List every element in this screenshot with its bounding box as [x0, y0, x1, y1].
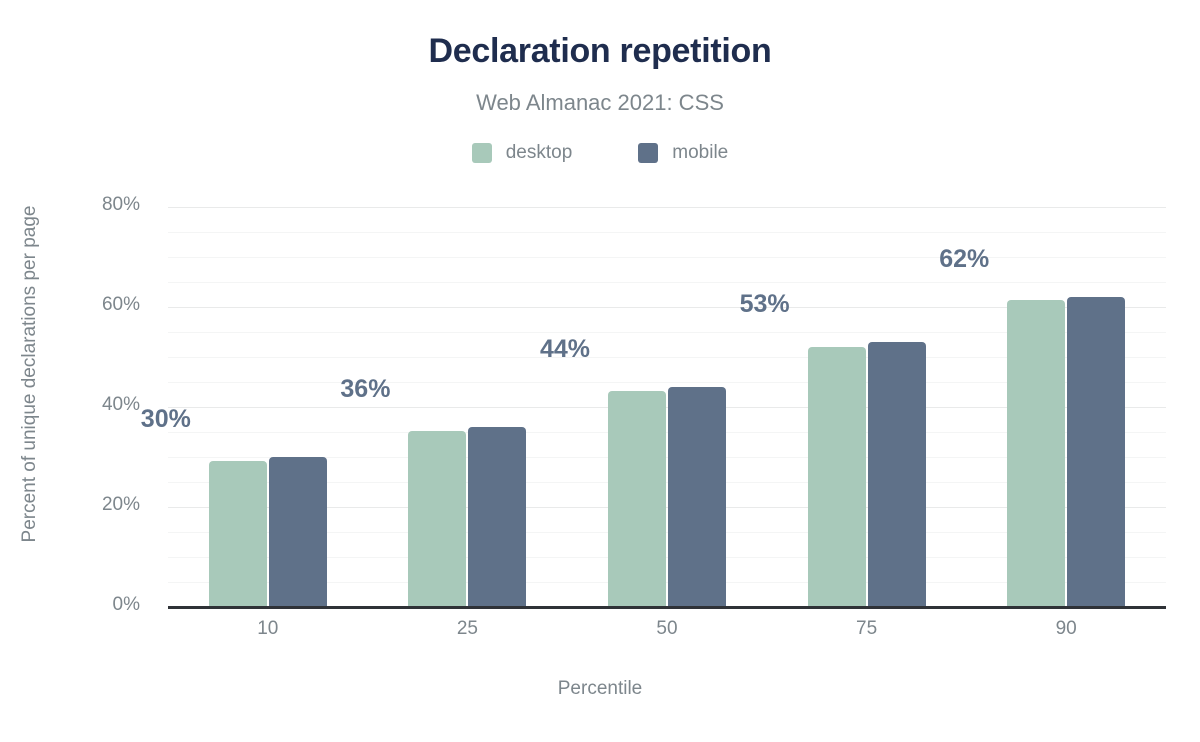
bar-mobile-10[interactable]: [269, 457, 327, 607]
bar-value-label-75: 53%: [740, 290, 790, 319]
bar-group-75: 53%: [808, 207, 926, 607]
bar-mobile-25[interactable]: [468, 427, 526, 607]
bar-mobile-90[interactable]: [1067, 297, 1125, 607]
x-tick-label-25: 25: [387, 618, 547, 640]
x-tick-label-90: 90: [986, 618, 1146, 640]
legend-item-desktop[interactable]: desktop: [472, 142, 573, 164]
chart-subtitle: Web Almanac 2021: CSS: [0, 90, 1200, 116]
bar-chart: Declaration repetition Web Almanac 2021:…: [0, 0, 1200, 742]
y-axis-title: Percent of unique declarations per page: [19, 164, 41, 584]
bar-group-25: 36%: [408, 207, 526, 607]
x-tick-label-10: 10: [188, 618, 348, 640]
bar-desktop-90[interactable]: [1007, 300, 1065, 608]
legend-label-mobile: mobile: [672, 142, 728, 164]
bar-series-container: 30%36%44%53%62%: [168, 207, 1166, 607]
bar-value-label-10: 30%: [141, 405, 191, 434]
x-axis-baseline: [168, 606, 1166, 609]
bar-desktop-10[interactable]: [209, 461, 267, 607]
plot-area: 30%36%44%53%62%: [168, 207, 1166, 607]
bar-value-label-50: 44%: [540, 335, 590, 364]
bar-group-50: 44%: [608, 207, 726, 607]
legend-swatch-mobile: [638, 143, 658, 163]
x-tick-label-50: 50: [587, 618, 747, 640]
legend-label-desktop: desktop: [506, 142, 573, 164]
x-axis-title: Percentile: [0, 678, 1200, 700]
bar-group-90: 62%: [1007, 207, 1125, 607]
bar-mobile-50[interactable]: [668, 387, 726, 607]
bar-value-label-25: 36%: [340, 375, 390, 404]
bar-group-10: 30%: [209, 207, 327, 607]
bar-desktop-25[interactable]: [408, 431, 466, 607]
bar-mobile-75[interactable]: [868, 342, 926, 607]
chart-legend: desktopmobile: [0, 142, 1200, 164]
legend-swatch-desktop: [472, 143, 492, 163]
bar-desktop-75[interactable]: [808, 347, 866, 607]
chart-title: Declaration repetition: [0, 32, 1200, 71]
x-tick-label-75: 75: [787, 618, 947, 640]
bar-desktop-50[interactable]: [608, 391, 666, 607]
y-tick-label: 0%: [0, 594, 140, 616]
bar-value-label-90: 62%: [939, 245, 989, 274]
legend-item-mobile[interactable]: mobile: [638, 142, 728, 164]
